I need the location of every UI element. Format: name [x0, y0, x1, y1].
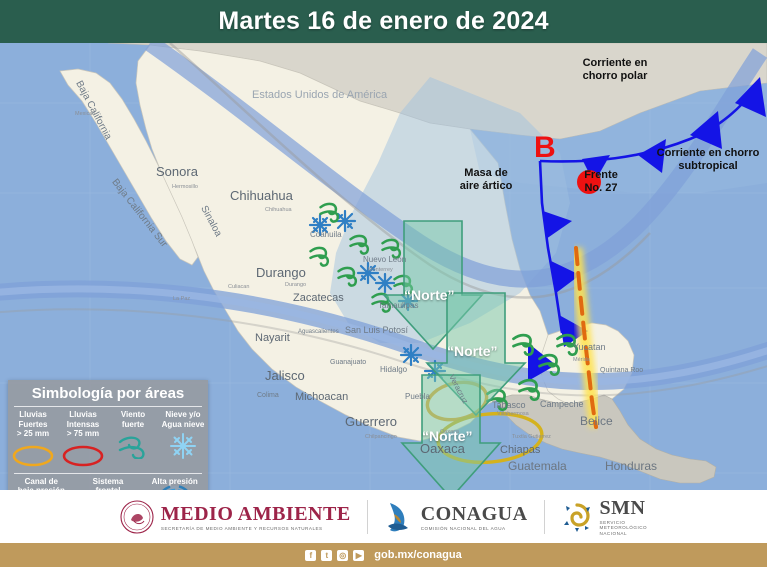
smn-text: SMN SERVICIO METEOROLÓGICO NACIONAL [600, 497, 648, 536]
annotation-subtropical-jet: Corriente en chorro subtropical [648, 147, 767, 172]
logo-separator-2 [544, 500, 545, 534]
legend-row-areas: Lluvias Fuertes > 25 mm Lluvias Intensas… [8, 407, 208, 473]
legend-caption-lluvias-intensas: Lluvias Intensas > 75 mm [58, 410, 108, 439]
social-bar: f t ◎ ▶ gob.mx/conagua [0, 543, 767, 567]
logo-smn: SMN SERVICIO METEOROLÓGICO NACIONAL [561, 497, 648, 536]
wind-icon [108, 429, 158, 463]
weather-map: Estados Unidos de América Belice Guatema… [0, 43, 767, 490]
land-central-america [498, 395, 716, 483]
snowflake-icon [158, 429, 208, 463]
lluvias-intensas-icon [58, 439, 108, 473]
legend-caption-sistema-frontal: Sistema frontal [75, 477, 142, 491]
norte-label-2: “Norte” [447, 343, 498, 359]
medio-ambiente-sub: SECRETARÍA DE MEDIO AMBIENTE Y RECURSOS … [161, 526, 351, 531]
lluvias-fuertes-icon [8, 439, 58, 473]
legend-item-lluvias-fuertes: Lluvias Fuertes > 25 mm [8, 407, 58, 473]
mexico-eagle-seal-icon [120, 500, 154, 534]
page-header: Martes 16 de enero de 2024 [0, 0, 767, 43]
medio-ambiente-text: MEDIO AMBIENTE SECRETARÍA DE MEDIO AMBIE… [161, 503, 351, 531]
legend-caption-lluvias-fuertes: Lluvias Fuertes > 25 mm [8, 410, 58, 439]
legend-row-systems: Canal de baja presión Sistema frontal [8, 474, 208, 491]
youtube-icon[interactable]: ▶ [353, 550, 364, 561]
legend-panel: Simbología por áreas Lluvias Fuertes > 2… [8, 380, 208, 490]
instagram-icon[interactable]: ◎ [337, 550, 348, 561]
conagua-eagle-water-icon [384, 500, 414, 534]
conagua-name: CONAGUA [421, 503, 528, 526]
legend-item-alta-presion: Alta presión A [141, 474, 208, 491]
annotation-frente-27: Frente No. 27 [566, 169, 636, 194]
legend-item-canal-baja-presion: Canal de baja presión [8, 474, 75, 491]
legend-item-sistema-frontal: Sistema frontal [75, 474, 142, 491]
annotation-polar-jet: Corriente en chorro polar [560, 57, 670, 82]
facebook-icon[interactable]: f [305, 550, 316, 561]
legend-caption-nieve: Nieve y/o Agua nieve [158, 410, 208, 429]
legend-caption-canal: Canal de baja presión [8, 477, 75, 491]
conagua-text: CONAGUA COMISIÓN NACIONAL DEL AGUA [421, 503, 528, 531]
smn-spiral-icon [561, 501, 593, 533]
annotation-arctic-airmass: Masa de aire ártico [440, 167, 532, 192]
legend-item-nieve: Nieve y/o Agua nieve [158, 407, 208, 473]
conagua-url[interactable]: gob.mx/conagua [374, 549, 461, 561]
norte-label-3: “Norte” [422, 428, 473, 444]
legend-item-lluvias-intensas: Lluvias Intensas > 75 mm [58, 407, 108, 473]
smn-sub: SERVICIO METEOROLÓGICO NACIONAL [600, 520, 648, 536]
page-title: Martes 16 de enero de 2024 [218, 7, 548, 36]
twitter-icon[interactable]: t [321, 550, 332, 561]
annotation-low-pressure-b: B [534, 133, 556, 163]
legend-title: Simbología por áreas [8, 380, 208, 406]
page-footer: MEDIO AMBIENTE SECRETARÍA DE MEDIO AMBIE… [0, 490, 767, 567]
legend-caption-viento-fuerte: Viento fuerte [108, 410, 158, 429]
logo-bar: MEDIO AMBIENTE SECRETARÍA DE MEDIO AMBIE… [0, 490, 767, 543]
conagua-sub: COMISIÓN NACIONAL DEL AGUA [421, 526, 528, 531]
norte-label-1: “Norte” [404, 287, 455, 303]
medio-ambiente-name: MEDIO AMBIENTE [161, 503, 351, 526]
logo-separator-1 [367, 500, 368, 534]
legend-item-viento-fuerte: Viento fuerte [108, 407, 158, 473]
logo-conagua: CONAGUA COMISIÓN NACIONAL DEL AGUA [384, 500, 528, 534]
logo-medio-ambiente: MEDIO AMBIENTE SECRETARÍA DE MEDIO AMBIE… [120, 500, 351, 534]
smn-name: SMN [600, 497, 648, 520]
